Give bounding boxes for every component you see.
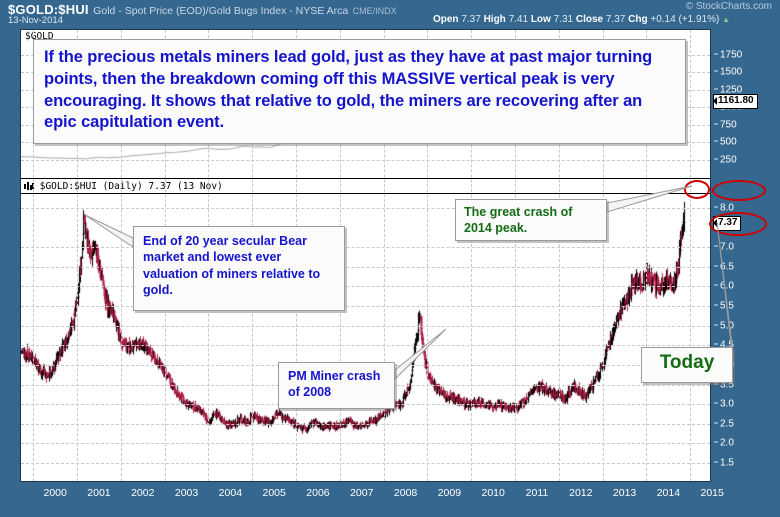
bear-market-text: End of 20 year secular Bear market and l… [143,233,336,298]
x-tick-2011: 2011 [526,487,549,499]
gold-price-flag: 1161.80 [713,94,758,109]
y-tick-gold-250: 250 [714,154,737,165]
great-crash-text: The great crash of 2014 peak. [464,204,599,237]
y-tick-ratio-3: 3.0 [714,399,734,410]
x-tick-2014: 2014 [657,487,680,499]
y-tick-gold-1750: 1750 [714,49,742,60]
y-tick-ratio-2.5: 2.5 [714,418,734,429]
gridline-v-2015 [690,30,691,481]
x-tick-2006: 2006 [306,487,329,499]
gridline-h-gold-250 [21,160,710,161]
y-tick-ratio-6.5: 6.5 [714,261,734,272]
y-tick-ratio-5: 5.0 [714,320,734,331]
y-tick-gold-1500: 1500 [714,67,742,78]
gridline-h-ratio-2 [21,443,710,444]
gridline-h-ratio-5.5 [21,306,710,307]
panel-divider [21,178,710,179]
pm-miner-crash-text: PM Miner crash of 2008 [288,368,386,401]
high-label: High [484,14,506,25]
x-tick-2000: 2000 [43,487,66,499]
y-tick-ratio-5.5: 5.5 [714,300,734,311]
level-8-highlight-ellipse [712,180,766,201]
gridline-h-ratio-6 [21,286,710,287]
x-tick-2008: 2008 [394,487,417,499]
low-value: 7.31 [554,14,573,25]
ohlc-quote-bar: Open 7.37 High 7.41 Low 7.31 Close 7.37 … [433,14,730,25]
gridline-h-ratio-2.5 [21,424,710,425]
gridline-h-ratio-7 [21,247,710,248]
x-tick-2005: 2005 [262,487,285,499]
pm-miner-crash-callout: PM Miner crash of 2008 [278,362,395,409]
close-value: 7.37 [606,14,625,25]
y-tick-gold-500: 500 [714,137,737,148]
symbol-description: Gold - Spot Price (EOD)/Gold Bugs Index … [93,5,348,17]
low-label: Low [531,14,551,25]
x-tick-2010: 2010 [481,487,504,499]
quote-date: 13-Nov-2014 [8,15,63,26]
x-tick-2015: 2015 [701,487,724,499]
ratio-panel-label: $GOLD:$HUI (Daily) 7.37 (13 Nov) [24,181,223,192]
stockcharts-brand: © StockCharts.com [686,1,772,12]
peak-highlight-ellipse [684,180,710,199]
high-value: 7.41 [509,14,528,25]
bear-market-callout: End of 20 year secular Bear market and l… [133,226,345,311]
change-label: Chg [628,14,647,25]
stockcharts-chart-screenshot: $GOLD:$HUI Gold - Spot Price (EOD)/Gold … [0,0,780,517]
y-tick-ratio-1.5: 1.5 [714,458,734,469]
up-arrow-icon: ▲ [722,15,730,24]
main-thesis-text: If the precious metals miners lead gold,… [44,47,675,134]
change-value: +0.14 (+1.91%) [650,14,719,25]
close-label: Close [576,14,603,25]
chart-header: $GOLD:$HUI Gold - Spot Price (EOD)/Gold … [0,0,780,27]
today-text: Today [642,351,732,376]
x-tick-2009: 2009 [438,487,461,499]
gridline-h-ratio-1.5 [21,463,710,464]
great-crash-callout: The great crash of 2014 peak. [455,199,607,241]
x-tick-2013: 2013 [613,487,636,499]
x-tick-2002: 2002 [131,487,154,499]
exchange-label: CME/INDX [353,6,397,16]
current-value-highlight-ellipse [709,212,767,236]
x-tick-2004: 2004 [219,487,242,499]
gridline-h-ratio-4.5 [21,345,710,346]
y-tick-gold-750: 750 [714,119,737,130]
today-callout: Today [641,347,733,383]
gridline-h-ratio-5 [21,326,710,327]
x-tick-2001: 2001 [87,487,110,499]
open-label: Open [433,14,459,25]
x-tick-2007: 2007 [350,487,373,499]
x-tick-2012: 2012 [569,487,592,499]
ratio-panel-top-line [21,193,710,194]
gridline-h-ratio-6.5 [21,267,710,268]
y-tick-ratio-6: 6.0 [714,281,734,292]
main-thesis-callout: If the precious metals miners lead gold,… [33,39,686,144]
header-title-line: $GOLD:$HUI Gold - Spot Price (EOD)/Gold … [8,1,397,19]
open-value: 7.37 [461,14,480,25]
y-tick-ratio-2: 2.0 [714,438,734,449]
ratio-panel-label-text: $GOLD:$HUI (Daily) 7.37 (13 Nov) [40,181,223,192]
x-tick-2003: 2003 [175,487,198,499]
y-tick-ratio-7: 7.0 [714,242,734,253]
